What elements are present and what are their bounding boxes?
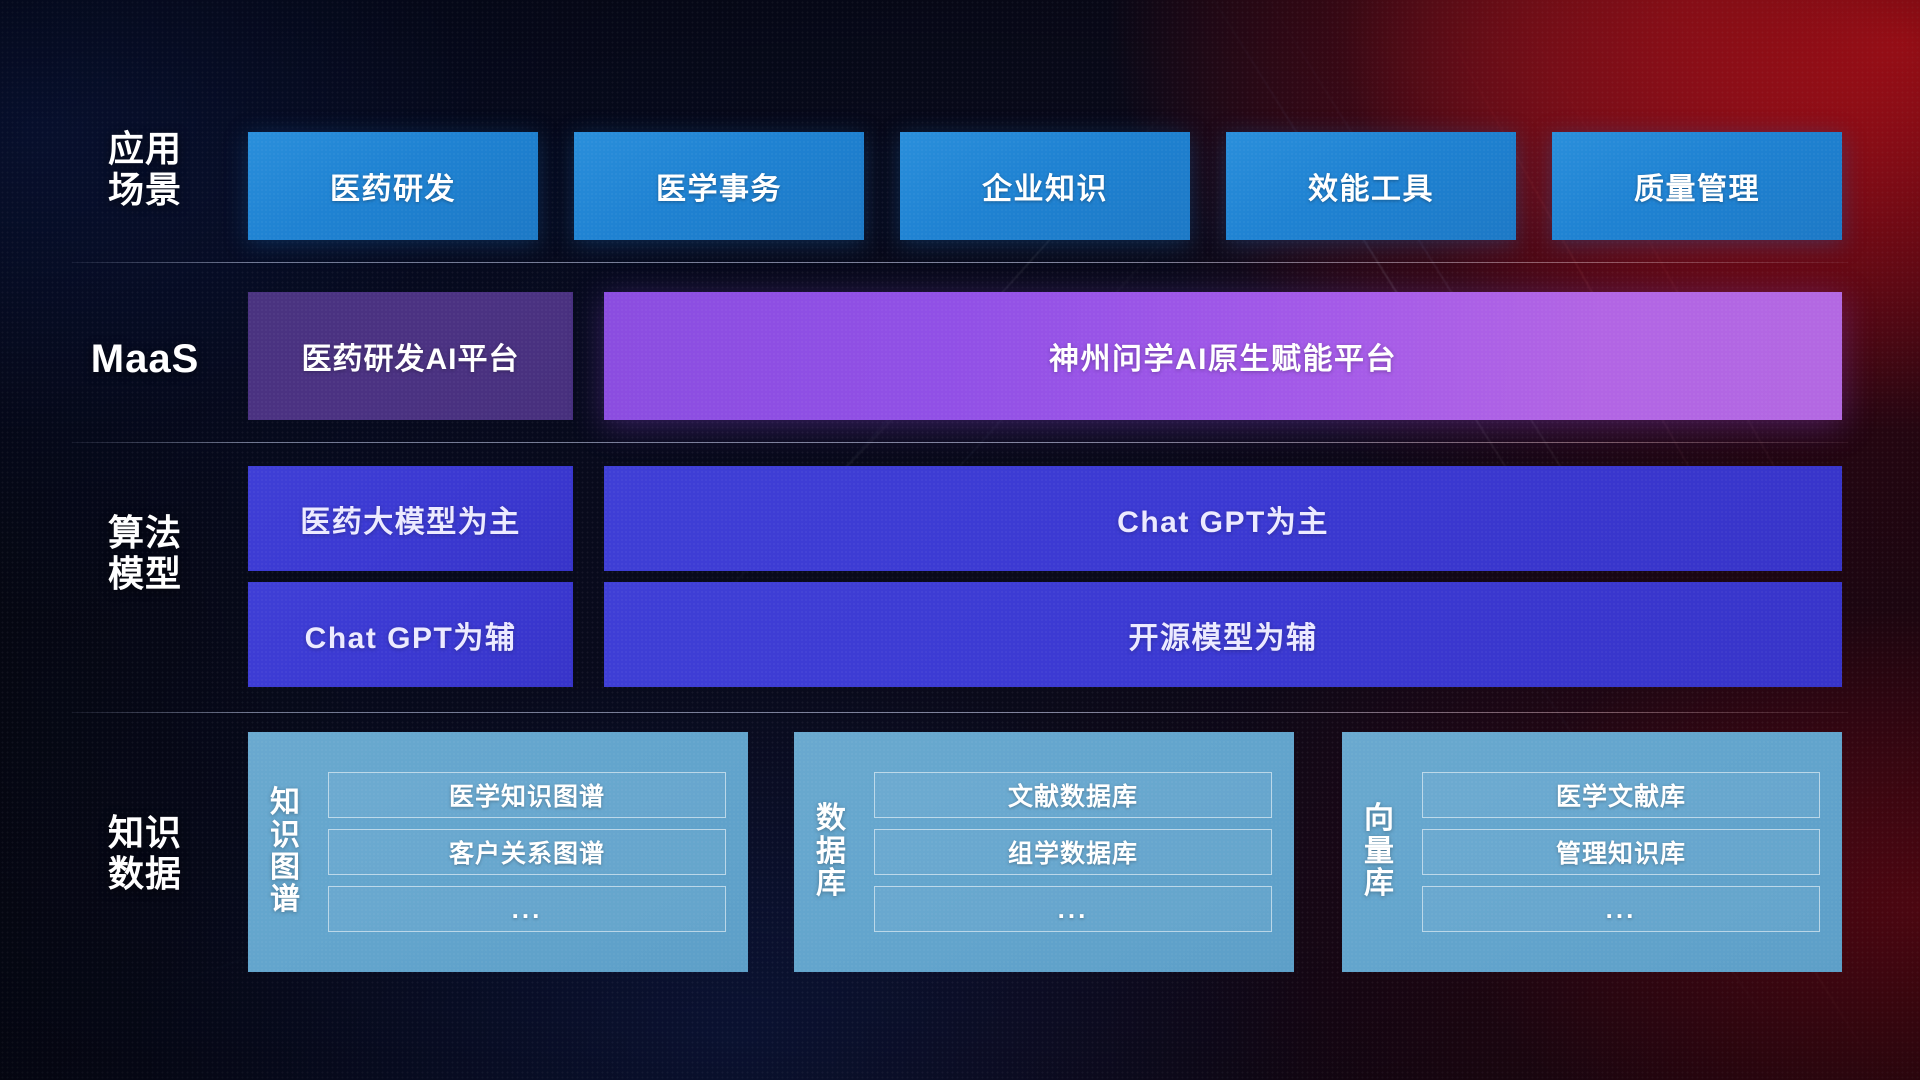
row-label-line: 应用 bbox=[70, 128, 220, 169]
divider-2 bbox=[72, 442, 1848, 443]
row-label-line: 算法 bbox=[70, 512, 220, 553]
title-char: 识 bbox=[270, 820, 300, 852]
knowledge-item[interactable]: 医学知识图谱 bbox=[328, 772, 726, 818]
algo-box-label: 开源模型为辅 bbox=[1129, 613, 1318, 657]
algo-box-chatgpt-secondary[interactable]: Chat GPT为辅 bbox=[248, 582, 573, 687]
app-box-enterprise-knowledge[interactable]: 企业知识 bbox=[900, 132, 1190, 240]
knowledge-panel-vector-db[interactable]: 向 量 库 医学文献库 管理知识库 ... bbox=[1342, 732, 1842, 972]
knowledge-panel-database[interactable]: 数 据 库 文献数据库 组学数据库 ... bbox=[794, 732, 1294, 972]
algo-box-label: 医药大模型为主 bbox=[300, 497, 521, 541]
algo-box-label: Chat GPT为主 bbox=[1117, 497, 1329, 541]
knowledge-item-more[interactable]: ... bbox=[1422, 886, 1820, 932]
title-char: 据 bbox=[816, 836, 846, 868]
knowledge-item[interactable]: 医学文献库 bbox=[1422, 772, 1820, 818]
maas-box-label: 神州问学AI原生赋能平台 bbox=[1049, 334, 1397, 378]
algo-box-opensource-secondary[interactable]: 开源模型为辅 bbox=[604, 582, 1842, 687]
app-box-quality-management[interactable]: 质量管理 bbox=[1552, 132, 1842, 240]
knowledge-item[interactable]: 文献数据库 bbox=[874, 772, 1272, 818]
row-label-application-scenarios: 应用 场景 bbox=[70, 128, 220, 210]
title-char: 图 bbox=[270, 852, 300, 884]
maas-box-label: 医药研发AI平台 bbox=[302, 334, 520, 378]
algo-box-label: Chat GPT为辅 bbox=[305, 613, 517, 657]
row-label-line: 模型 bbox=[70, 553, 220, 594]
title-char: 数 bbox=[816, 803, 846, 835]
algo-box-chatgpt-primary[interactable]: Chat GPT为主 bbox=[604, 466, 1842, 571]
title-char: 库 bbox=[1364, 868, 1394, 900]
row-label-knowledge-data: 知识 数据 bbox=[70, 812, 220, 894]
title-char: 知 bbox=[270, 787, 300, 819]
app-box-label: 质量管理 bbox=[1634, 164, 1760, 208]
app-box-medical-affairs[interactable]: 医学事务 bbox=[574, 132, 864, 240]
knowledge-panel-title: 向 量 库 bbox=[1342, 732, 1416, 972]
knowledge-item-more[interactable]: ... bbox=[874, 886, 1272, 932]
row-label-line: 场景 bbox=[70, 169, 220, 210]
knowledge-item[interactable]: 管理知识库 bbox=[1422, 829, 1820, 875]
row-label-maas: MaaS bbox=[70, 337, 220, 383]
knowledge-item[interactable]: 客户关系图谱 bbox=[328, 829, 726, 875]
app-box-medicine-rd[interactable]: 医药研发 bbox=[248, 132, 538, 240]
knowledge-panel-title: 数 据 库 bbox=[794, 732, 868, 972]
app-box-label: 医药研发 bbox=[330, 164, 456, 208]
title-char: 量 bbox=[1364, 836, 1394, 868]
knowledge-item-more[interactable]: ... bbox=[328, 886, 726, 932]
knowledge-panel-knowledge-graph[interactable]: 知 识 图 谱 医学知识图谱 客户关系图谱 ... bbox=[248, 732, 748, 972]
maas-box-medicine-ai-platform[interactable]: 医药研发AI平台 bbox=[248, 292, 573, 420]
app-box-label: 效能工具 bbox=[1308, 164, 1434, 208]
row-label-line: MaaS bbox=[70, 337, 220, 383]
maas-box-shenzhou-platform[interactable]: 神州问学AI原生赋能平台 bbox=[604, 292, 1842, 420]
row-label-line: 数据 bbox=[70, 853, 220, 894]
row-label-algorithm-models: 算法 模型 bbox=[70, 512, 220, 594]
divider-1 bbox=[72, 262, 1848, 263]
title-char: 谱 bbox=[270, 884, 300, 916]
app-box-efficiency-tools[interactable]: 效能工具 bbox=[1226, 132, 1516, 240]
app-box-label: 企业知识 bbox=[982, 164, 1108, 208]
app-box-label: 医学事务 bbox=[656, 164, 782, 208]
knowledge-item[interactable]: 组学数据库 bbox=[874, 829, 1272, 875]
knowledge-panel-title: 知 识 图 谱 bbox=[248, 732, 322, 972]
algo-box-medicine-llm-primary[interactable]: 医药大模型为主 bbox=[248, 466, 573, 571]
title-char: 向 bbox=[1364, 803, 1394, 835]
title-char: 库 bbox=[816, 868, 846, 900]
row-label-line: 知识 bbox=[70, 812, 220, 853]
divider-3 bbox=[72, 712, 1848, 713]
